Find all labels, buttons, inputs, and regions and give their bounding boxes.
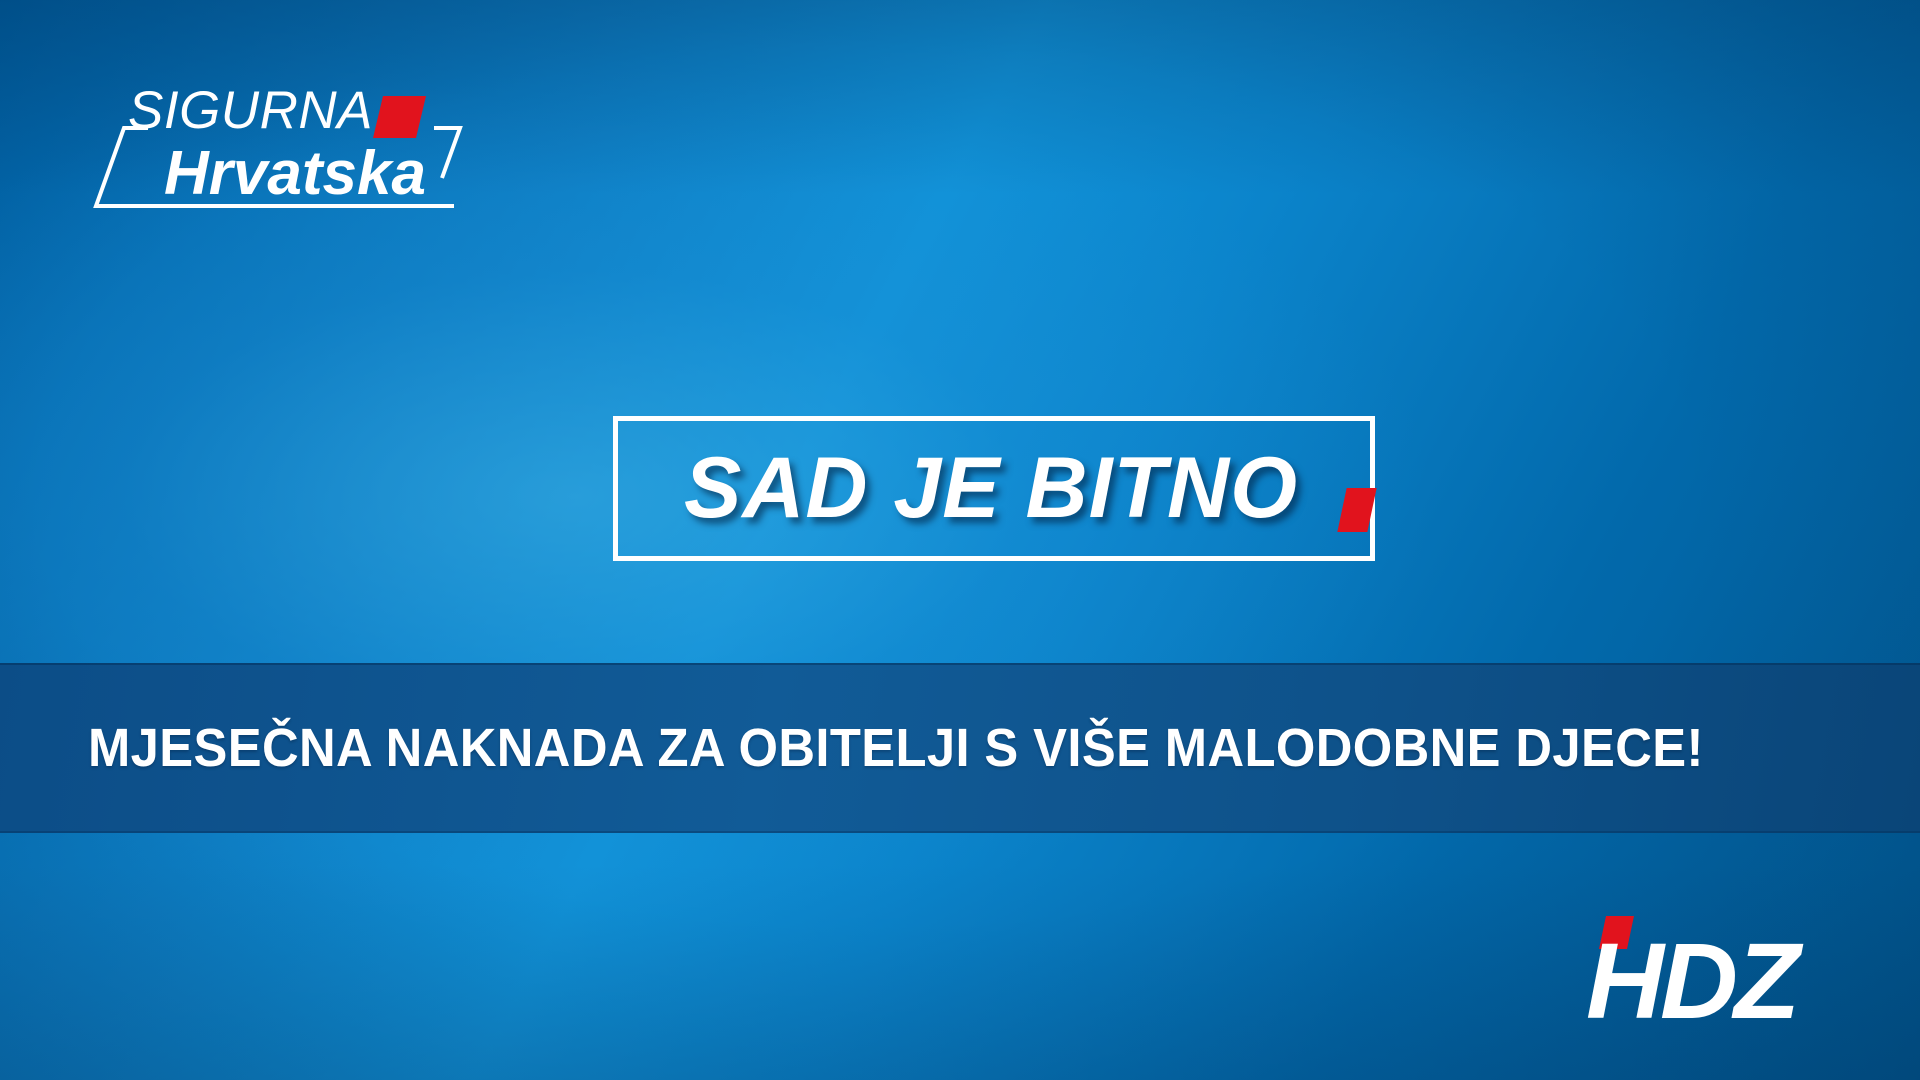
campaign-poster: SIGURNA Hrvatska SAD JE BITNO MJESEČNA N…: [0, 0, 1920, 1080]
banner-message: MJESEČNA NAKNADA ZA OBITELJI S VIŠE MALO…: [88, 717, 1704, 779]
party-logo-text: HDZ: [1586, 920, 1804, 1041]
message-banner: MJESEČNA NAKNADA ZA OBITELJI S VIŠE MALO…: [0, 663, 1920, 833]
logo-red-accent: [373, 96, 426, 138]
banner-bottom-divider: [0, 831, 1920, 833]
logo-line1: SIGURNA: [128, 81, 373, 140]
logo-line2: Hrvatska: [164, 139, 426, 208]
banner-top-divider: [0, 663, 1920, 665]
headline-block: SAD JE BITNO: [613, 416, 1375, 561]
headline-text: SAD JE BITNO: [613, 416, 1375, 561]
party-logo: HDZ: [1586, 910, 1854, 1028]
campaign-logo: SIGURNA Hrvatska: [86, 72, 486, 212]
